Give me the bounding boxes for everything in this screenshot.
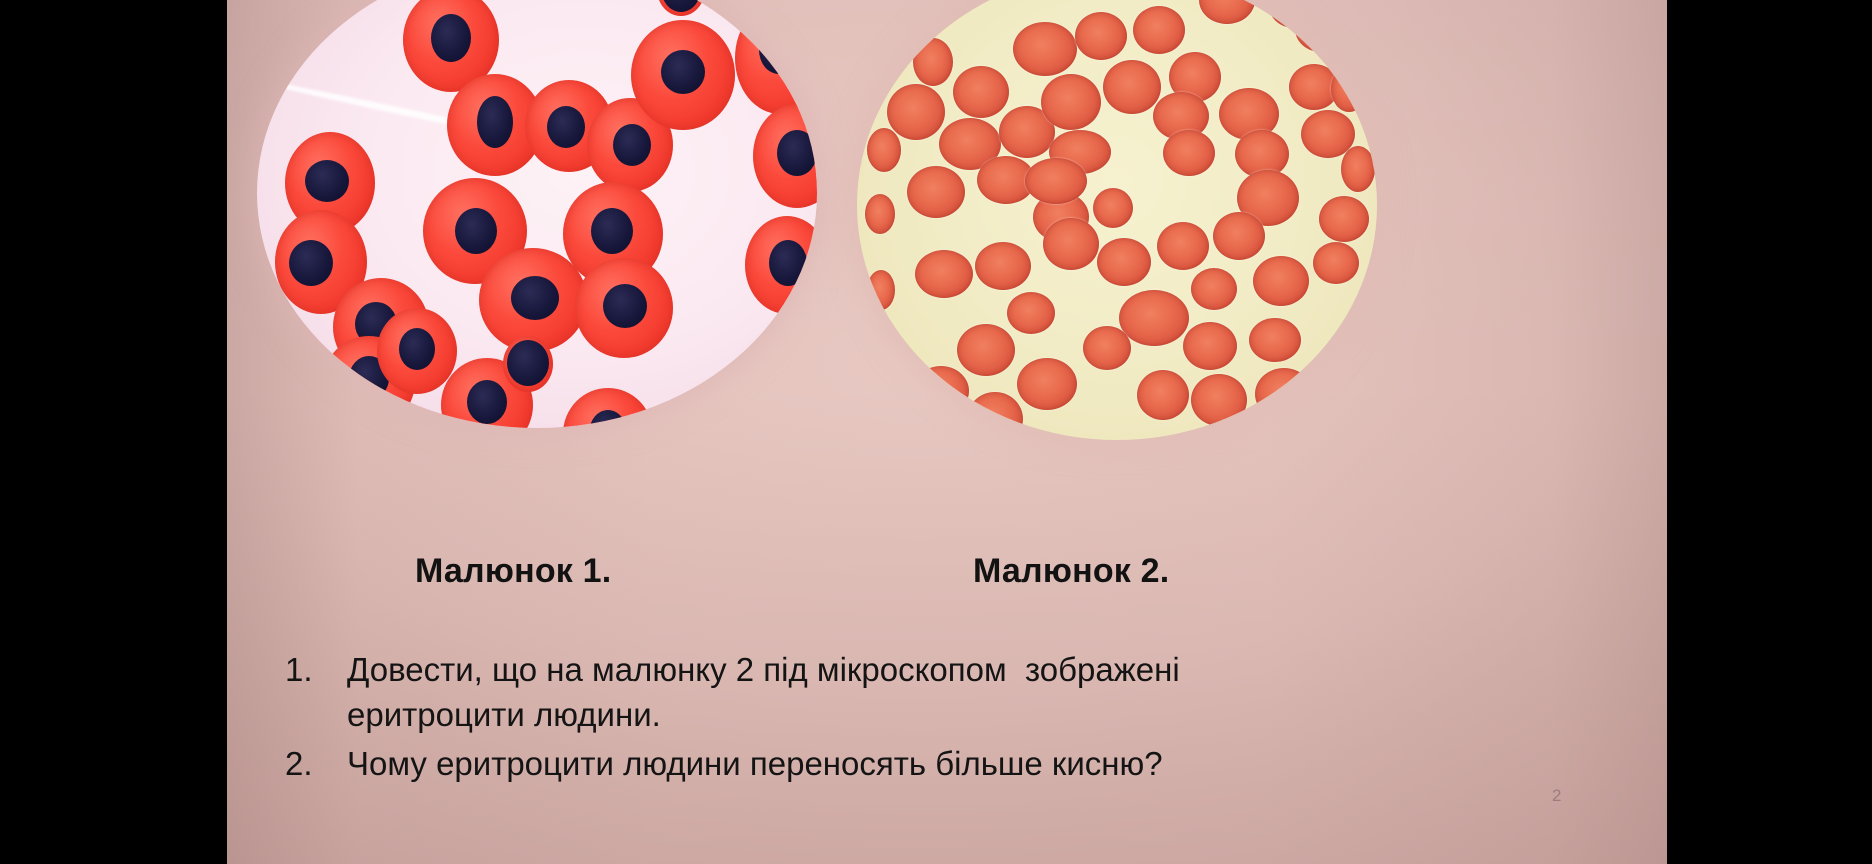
question-item-1: 1. Довести, що на малюнку 2 під мікроско… — [285, 648, 1615, 738]
erythrocyte-anuclear — [1213, 212, 1265, 260]
erythrocyte-anuclear — [1183, 322, 1237, 370]
cell-nucleus — [399, 328, 435, 370]
cell-nucleus — [507, 340, 549, 386]
letterbox-bar-right — [1667, 0, 1872, 864]
figure-2-caption: Малюнок 2. — [973, 552, 1169, 591]
erythrocyte-anuclear — [953, 66, 1009, 118]
erythrocyte-anuclear — [1319, 196, 1369, 242]
question-line: еритроцити людини. — [347, 693, 1615, 738]
cell-nucleus — [613, 124, 651, 166]
erythrocyte-anuclear — [957, 324, 1015, 376]
cell-nucleus — [455, 208, 497, 254]
erythrocyte-nucleated — [745, 216, 817, 314]
erythrocyte-nucleated — [563, 388, 653, 428]
erythrocyte-anuclear — [1255, 368, 1313, 420]
question-text: Чому еритроцити людини переносять більше… — [347, 742, 1615, 787]
erythrocyte-anuclear — [1017, 358, 1077, 410]
erythrocyte-anuclear — [1133, 6, 1185, 54]
erythrocyte-anuclear — [1191, 268, 1237, 310]
slide-canvas: Малюнок 1. Малюнок 2. 1. Довести, що на … — [227, 0, 1667, 864]
erythrocyte-anuclear — [1043, 218, 1099, 270]
erythrocyte-nucleated — [657, 0, 705, 16]
question-line: Довести, що на малюнку 2 під мікроскопом… — [347, 648, 1615, 693]
erythrocyte-anuclear — [1137, 370, 1189, 420]
erythrocyte-anuclear — [915, 250, 973, 298]
cell-nucleus — [467, 380, 507, 424]
cell-nucleus — [591, 208, 633, 254]
cell-nucleus — [289, 240, 333, 286]
erythrocyte-anuclear — [1199, 0, 1255, 24]
erythrocyte-nucleated — [735, 2, 817, 114]
cell-nucleus — [511, 276, 559, 320]
erythrocyte-anuclear — [1083, 326, 1131, 370]
cell-nucleus — [305, 160, 349, 202]
erythrocyte-anuclear — [1163, 130, 1215, 176]
question-marker: 2. — [285, 742, 347, 787]
erythrocyte-nucleated — [575, 258, 673, 358]
erythrocyte-anuclear — [1157, 222, 1209, 270]
erythrocyte-anuclear — [1103, 60, 1161, 114]
erythrocyte-nucleated — [631, 20, 735, 130]
question-item-2: 2. Чому еритроцити людини переносять біл… — [285, 742, 1615, 787]
erythrocyte-anuclear — [1253, 256, 1309, 306]
erythrocyte-nucleated — [377, 308, 457, 394]
figure-1-caption: Малюнок 1. — [415, 552, 611, 591]
cell-nucleus — [661, 50, 705, 94]
erythrocyte-anuclear — [1295, 6, 1347, 52]
erythrocyte-nucleated — [503, 336, 553, 392]
erythrocyte-anuclear — [1191, 374, 1247, 426]
cell-nucleus — [661, 0, 701, 12]
cell-nucleus — [747, 0, 791, 2]
erythrocyte-anuclear — [913, 366, 969, 416]
presentation-slide-frame: Малюнок 1. Малюнок 2. 1. Довести, що на … — [0, 0, 1872, 864]
erythrocyte-anuclear — [1341, 146, 1375, 192]
erythrocyte-anuclear — [1313, 242, 1359, 284]
microscope-field-figure-1 — [257, 0, 817, 428]
erythrocyte-anuclear — [867, 128, 901, 172]
erythrocyte-anuclear — [1025, 158, 1087, 204]
cell-nucleus — [477, 96, 513, 148]
erythrocyte-nucleated — [753, 104, 817, 208]
erythrocyte-anuclear — [865, 194, 895, 234]
cell-nucleus — [589, 410, 627, 428]
erythrocyte-anuclear — [1041, 74, 1101, 130]
erythrocyte-anuclear — [1249, 318, 1301, 362]
letterbox-bar-left — [0, 0, 227, 864]
erythrocyte-anuclear — [907, 166, 965, 218]
erythrocyte-anuclear — [867, 270, 895, 310]
erythrocyte-anuclear — [1007, 292, 1055, 334]
microscope-field-figure-2 — [857, 0, 1377, 440]
cell-nucleus — [603, 284, 647, 328]
erythrocyte-anuclear — [975, 242, 1031, 290]
cell-nucleus — [431, 14, 471, 62]
question-line: Чому еритроцити людини переносять більше… — [347, 742, 1615, 787]
slide-page-number: 2 — [1552, 786, 1561, 806]
cell-nucleus — [759, 26, 799, 74]
question-text: Довести, що на малюнку 2 під мікроскопом… — [347, 648, 1615, 738]
cell-nucleus — [769, 240, 807, 286]
erythrocyte-anuclear — [1093, 188, 1133, 228]
erythrocyte-anuclear — [1119, 290, 1189, 346]
question-marker: 1. — [285, 648, 347, 693]
erythrocyte-anuclear — [1075, 12, 1127, 60]
erythrocyte-anuclear — [1097, 238, 1151, 286]
erythrocyte-anuclear — [1013, 22, 1077, 76]
erythrocyte-anuclear — [967, 392, 1023, 440]
cell-nucleus — [547, 106, 585, 148]
erythrocyte-anuclear — [1331, 66, 1367, 112]
erythrocyte-anuclear — [887, 84, 945, 140]
erythrocyte-anuclear — [913, 38, 953, 86]
question-list: 1. Довести, що на малюнку 2 під мікроско… — [285, 648, 1615, 791]
cell-nucleus — [777, 130, 817, 176]
